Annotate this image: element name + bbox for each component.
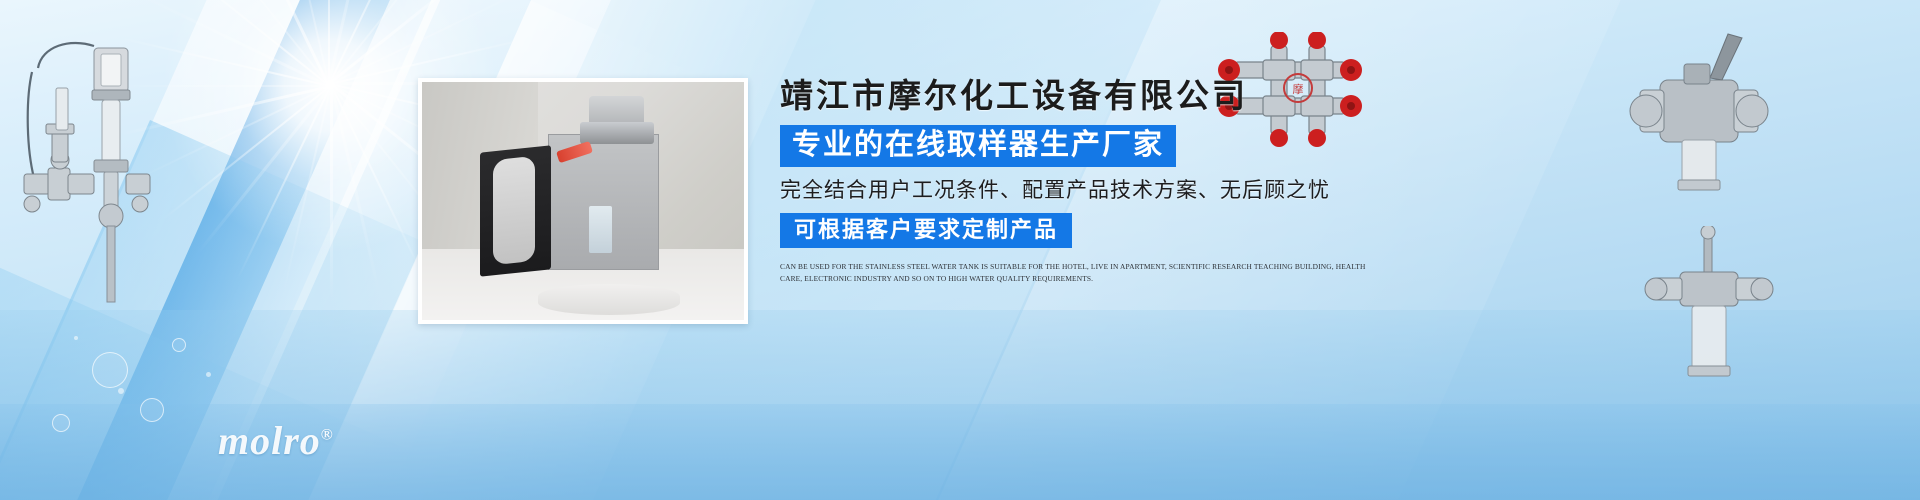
company-title: 靖江市摩尔化工设备有限公司 [780,74,1400,120]
dot-decoration [74,336,78,340]
bubble-decoration [52,414,70,432]
banner-subline: 完全结合用户工况条件、配置产品技术方案、无后顾之忧 [780,178,1400,204]
watermark-text: molro [218,418,321,463]
sampling-valve-illustration [1640,226,1780,406]
watermark-logo: molro® [218,417,334,464]
custom-product-highlight: 可根据客户要求定制产品 [780,213,1072,248]
bubble-decoration [172,338,186,352]
english-caption: CAN BE USED FOR THE STAINLESS STEEL WATE… [780,261,1380,284]
dot-decoration [206,372,211,377]
product-photo [418,78,748,324]
banner-text-block: 靖江市摩尔化工设备有限公司 专业的在线取样器生产厂家 完全结合用户工况条件、配置… [780,74,1400,284]
promo-banner: 摩 [0,0,1920,500]
headline-highlight: 专业的在线取样器生产厂家 [780,125,1176,167]
photo-base [538,284,680,315]
lever-valve-illustration [1624,24,1774,204]
bubble-decoration [92,352,128,388]
left-product-illustration [8,28,188,318]
product-photo-image [422,82,744,320]
photo-sample-bottle [589,206,612,254]
dot-decoration [118,388,124,394]
photo-valve-body [580,122,654,143]
bubble-decoration [140,398,164,422]
photo-cabinet-window [493,156,535,265]
watermark-registered-mark: ® [321,427,334,444]
